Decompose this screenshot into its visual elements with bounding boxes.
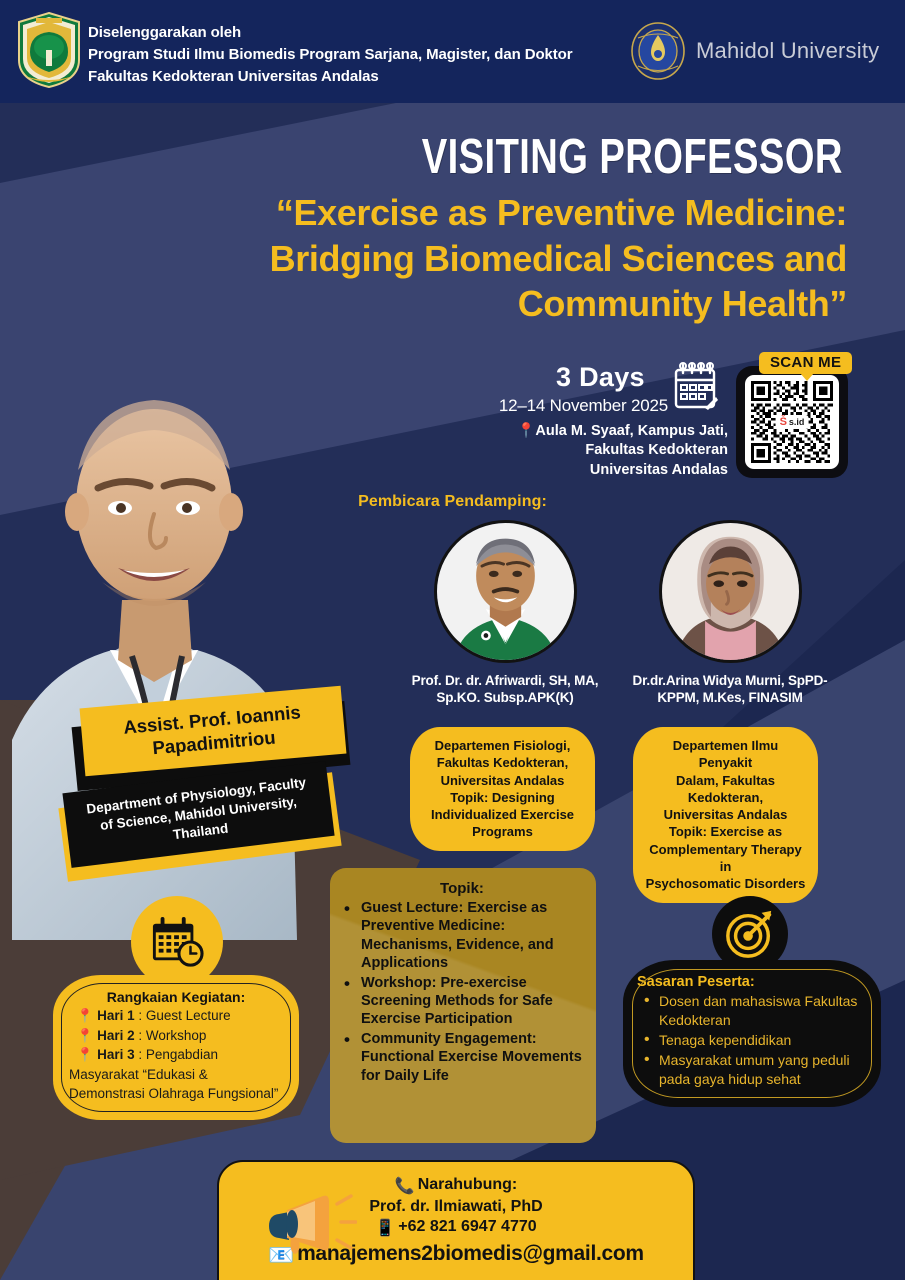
event-duration-row: 3 Days — [556, 362, 645, 393]
contact-label-text: Narahubung: — [418, 1176, 518, 1193]
location-pin-icon: 📍 — [77, 1028, 94, 1043]
speaker-portrait-icon — [659, 520, 802, 663]
venue-line-1: Aula M. Syaaf, Kampus Jati, — [535, 423, 728, 439]
speaker-card-1: Prof. Dr. dr. Afriwardi, SH, MA, Sp.KO. … — [405, 520, 605, 707]
rangkaian-sep: : — [135, 1008, 146, 1023]
mobile-phone-icon: 📱 — [375, 1218, 395, 1238]
phone-icon: 📞 — [395, 1176, 415, 1196]
rangkaian-activity: Workshop — [146, 1028, 207, 1043]
rangkaian-activity: Guest Lecture — [146, 1008, 231, 1023]
speaker-name: Dr.dr.Arina Widya Murni, SpPD- KPPM, M.K… — [630, 672, 830, 707]
organizer-text: Diselenggarakan oleh Program Studi Ilmu … — [88, 22, 572, 87]
rangkaian-sep: : — [135, 1047, 146, 1062]
speaker-portrait-icon — [434, 520, 577, 663]
topik-item: Community Engagement: Functional Exercis… — [342, 1030, 582, 1085]
event-dates: 12–14 November 2025 — [478, 396, 668, 416]
location-pin-icon: 📍 — [77, 1008, 94, 1023]
speaker-affiliation-1: Departemen Fisiologi, Fakultas Kedoktera… — [410, 727, 595, 851]
rangkaian-day: Hari 2 — [97, 1028, 135, 1043]
title-line-3: Community Health” — [127, 281, 847, 327]
rangkaian-title: Rangkaian Kegiatan: — [69, 989, 283, 1005]
venue-line-2: Fakultas Kedokteran — [585, 442, 728, 458]
mahidol-seal-icon — [630, 22, 686, 80]
organizer-label: Diselenggarakan oleh — [88, 22, 572, 44]
page-title-kicker: VISITING PROFESSOR — [422, 129, 843, 185]
topik-item: Guest Lecture: Exercise as Preventive Me… — [342, 899, 582, 973]
location-pin-icon: 📍 — [517, 423, 535, 439]
rangkaian-day: Hari 3 — [97, 1047, 135, 1062]
rangkaian-kegiatan-card: Rangkaian Kegiatan: 📍 Hari 1 : Guest Lec… — [53, 975, 299, 1120]
topik-item: Workshop: Pre-exercise Screening Methods… — [342, 974, 582, 1029]
scan-me-badge: SCAN ME — [759, 352, 852, 374]
sasaran-item: Dosen dan mahasiswa Fakultas Kedokteran — [637, 992, 867, 1030]
topik-list: Guest Lecture: Exercise as Preventive Me… — [342, 899, 582, 1085]
topik-title: Topik: — [342, 880, 582, 897]
poster-canvas: Diselenggarakan oleh Program Studi Ilmu … — [0, 0, 905, 1280]
rangkaian-day: Hari 1 — [97, 1008, 135, 1023]
speaker-name: Prof. Dr. dr. Afriwardi, SH, MA, Sp.KO. … — [405, 672, 605, 707]
calendar-icon — [672, 362, 718, 412]
sid-mark-icon: Š — [780, 416, 787, 428]
location-pin-icon: 📍 — [77, 1047, 94, 1062]
rangkaian-sep: : — [135, 1028, 146, 1043]
event-venue: 📍Aula M. Syaaf, Kampus Jati, Fakultas Ke… — [500, 422, 728, 480]
speakers-section-label: Pembicara Pendamping: — [0, 493, 905, 511]
poster-header: Diselenggarakan oleh Program Studi Ilmu … — [0, 0, 905, 103]
sasaran-list: Dosen dan mahasiswa Fakultas Kedokteran … — [637, 992, 867, 1088]
rangkaian-item: 📍 Hari 2 : Workshop — [69, 1026, 283, 1046]
partner-name: Mahidol University — [696, 38, 879, 64]
topik-card: Topik: Guest Lecture: Exercise as Preven… — [330, 868, 596, 1143]
contact-phone: +62 821 6947 4770 — [398, 1218, 536, 1235]
qr-watermark: Šs.id — [776, 415, 809, 429]
rangkaian-item: 📍 Hari 1 : Guest Lecture — [69, 1006, 283, 1026]
partner-logo-group: Mahidol University — [630, 22, 879, 80]
page-title: “Exercise as Preventive Medicine: Bridgi… — [127, 190, 847, 327]
organizer-program: Program Studi Ilmu Biomedis Program Sarj… — [88, 44, 572, 66]
rangkaian-tail: Masyarakat “Edukasi & Demonstrasi Olahra… — [69, 1065, 283, 1104]
sid-label: s.id — [789, 417, 805, 427]
rangkaian-item: 📍 Hari 3 : Pengabdian — [69, 1045, 283, 1065]
speaker-affiliation-2: Departemen Ilmu Penyakit Dalam, Fakultas… — [633, 727, 818, 903]
rangkaian-activity: Pengabdian — [146, 1047, 218, 1062]
megaphone-icon — [261, 1192, 357, 1262]
sasaran-item: Masyarakat umum yang peduli pada gaya hi… — [637, 1051, 867, 1089]
event-duration: 3 Days — [556, 362, 645, 393]
venue-line-3: Universitas Andalas — [590, 462, 728, 478]
sasaran-item: Tenaga kependidikan — [637, 1031, 867, 1050]
title-line-1: “Exercise as Preventive Medicine: — [127, 190, 847, 236]
qr-code-panel[interactable]: Šs.id — [736, 366, 848, 478]
sasaran-peserta-card: Sasaran Peserta: Dosen dan mahasiswa Fak… — [623, 960, 881, 1107]
title-line-2: Bridging Biomedical Sciences and — [127, 236, 847, 282]
unand-seal-icon — [16, 12, 82, 88]
sasaran-title: Sasaran Peserta: — [637, 974, 867, 990]
contact-card: 📞Narahubung: Prof. dr. Ilmiawati, PhD 📱+… — [217, 1160, 695, 1280]
organizer-faculty: Fakultas Kedokteran Universitas Andalas — [88, 66, 572, 88]
qr-code-icon[interactable]: Šs.id — [745, 375, 839, 469]
speaker-card-2: Dr.dr.Arina Widya Murni, SpPD- KPPM, M.K… — [630, 520, 830, 707]
